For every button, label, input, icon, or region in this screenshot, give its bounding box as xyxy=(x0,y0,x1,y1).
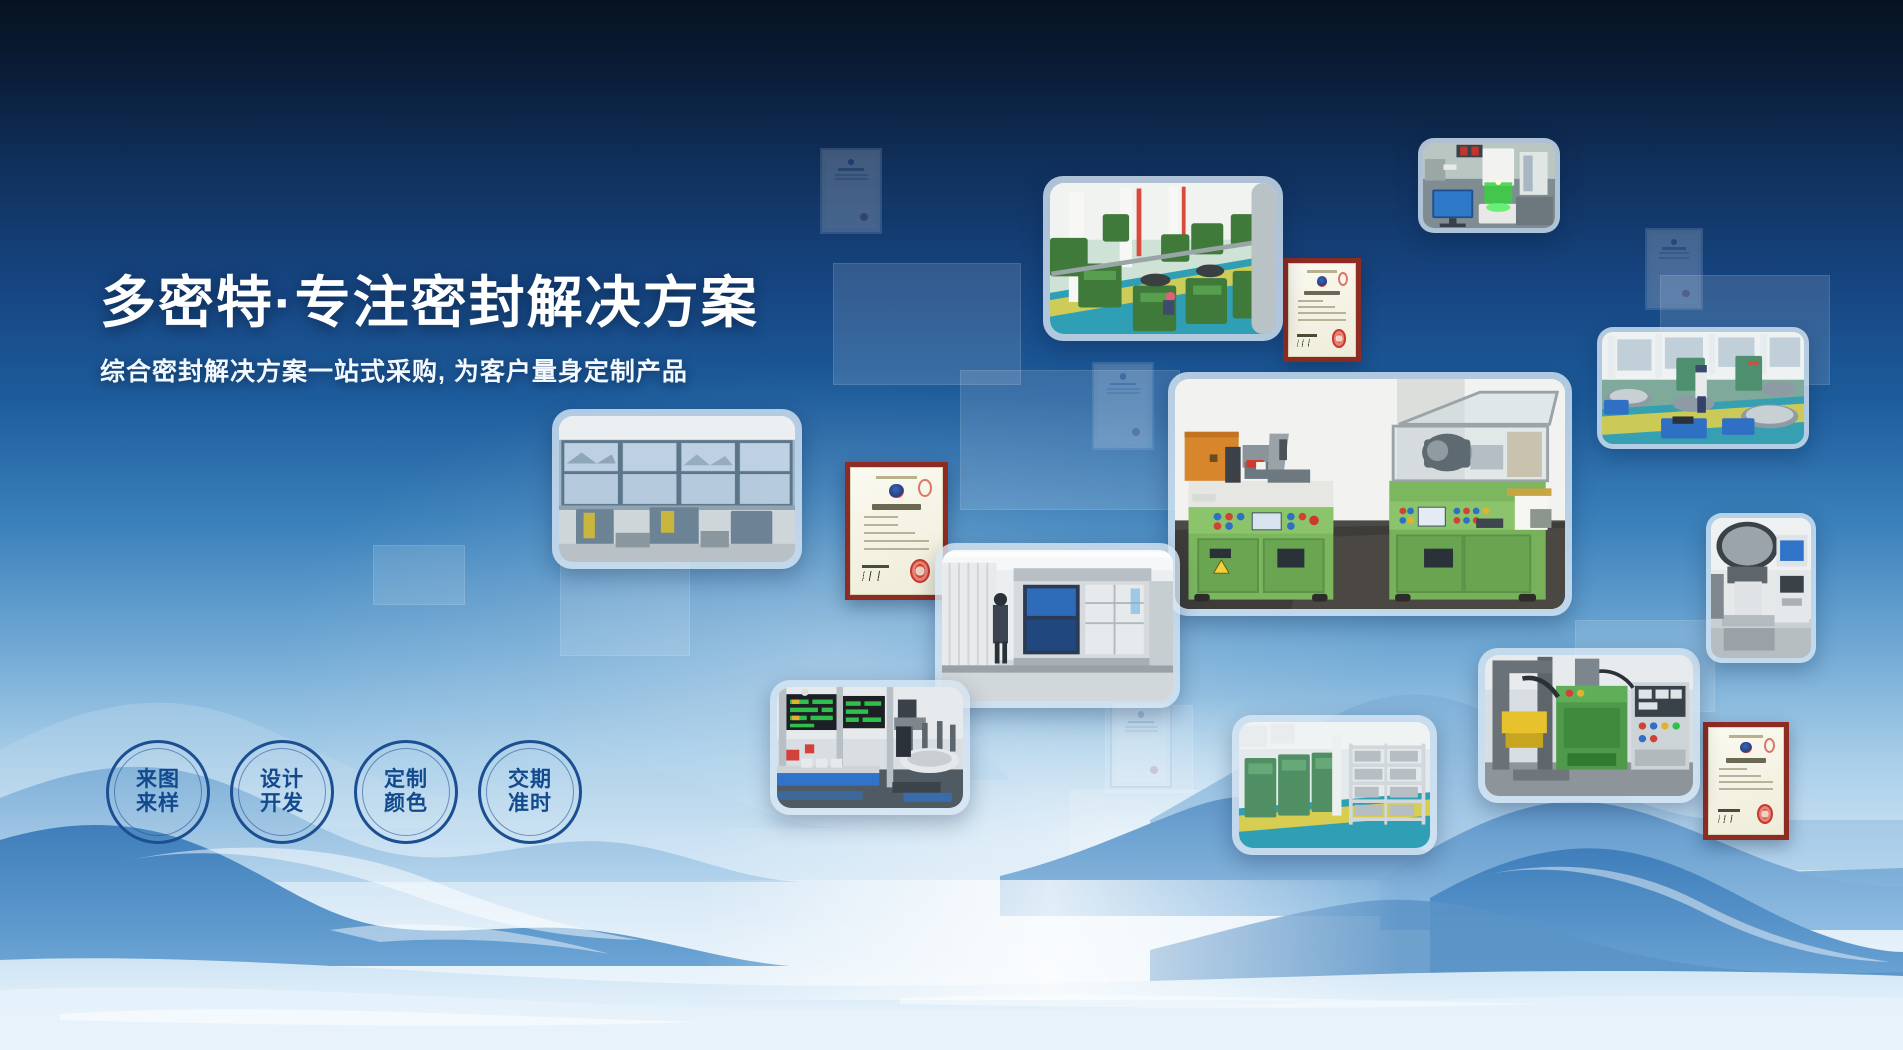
badge-on-time-delivery[interactable]: 交期准时 xyxy=(478,740,582,844)
badge-custom-color[interactable]: 定制颜色 xyxy=(354,740,458,844)
ghost-certificate-2 xyxy=(1645,228,1703,310)
hero-banner: 多密特·专注密封解决方案 综合密封解决方案一站式采购, 为客户量身定制产品 来图… xyxy=(0,0,1903,1050)
photo-warehouse-shelving xyxy=(1239,722,1430,848)
photo-mold-workshop-glass xyxy=(559,416,795,562)
badge-drawing-sample[interactable]: 来图来样 xyxy=(106,740,210,844)
badge-line1: 交期 xyxy=(508,768,552,791)
badge-line2: 颜色 xyxy=(384,792,428,815)
photo-card-rubber-molding-press[interactable] xyxy=(1478,648,1700,803)
patent-certificate-3[interactable] xyxy=(1703,722,1789,840)
photo-card-warehouse-shelving[interactable] xyxy=(1232,715,1437,855)
badge-line2: 来样 xyxy=(136,792,180,815)
photo-projector-measuring-lab xyxy=(1711,518,1811,658)
feature-badge-list: 来图来样 设计开发 定制颜色 交期准时 xyxy=(106,740,582,844)
photo-rubber-molding-press xyxy=(1485,655,1693,796)
photo-card-green-testing-machines[interactable] xyxy=(1168,372,1572,616)
ghost-certificate-3 xyxy=(1092,362,1154,450)
badge-line2: 开发 xyxy=(260,792,304,815)
photo-workshop-assembly-area xyxy=(1602,332,1804,444)
patent-certificate-2[interactable] xyxy=(1283,258,1361,362)
photo-factory-line-overhead xyxy=(1050,183,1276,334)
photo-card-projector-measuring-lab[interactable] xyxy=(1706,513,1816,663)
badge-line1: 定制 xyxy=(384,768,428,791)
photo-automated-inspection xyxy=(777,687,963,808)
photo-clean-room-equipment xyxy=(942,550,1173,701)
patent-certificate-1[interactable] xyxy=(845,462,948,600)
photo-card-factory-line-overhead[interactable] xyxy=(1043,176,1283,341)
page-subtitle: 综合密封解决方案一站式采购, 为客户量身定制产品 xyxy=(100,352,688,388)
photo-card-clean-room-equipment[interactable] xyxy=(935,543,1180,708)
badge-design-development[interactable]: 设计开发 xyxy=(230,740,334,844)
page-title: 多密特·专注密封解决方案 xyxy=(100,272,759,334)
photo-card-automated-inspection[interactable] xyxy=(770,680,970,815)
photo-card-workshop-assembly-area[interactable] xyxy=(1597,327,1809,449)
photo-green-testing-machines xyxy=(1175,379,1565,609)
deco-rect-2 xyxy=(373,545,465,605)
photo-card-mold-workshop-glass[interactable] xyxy=(552,409,802,569)
badge-line1: 设计 xyxy=(260,768,304,791)
ghost-certificate-1 xyxy=(820,148,882,234)
photo-optical-measuring-machine xyxy=(1423,143,1555,228)
badge-line1: 来图 xyxy=(136,768,180,791)
deco-rect-1 xyxy=(833,263,1021,385)
badge-line2: 准时 xyxy=(508,792,552,815)
photo-card-optical-measuring-machine[interactable] xyxy=(1418,138,1560,233)
